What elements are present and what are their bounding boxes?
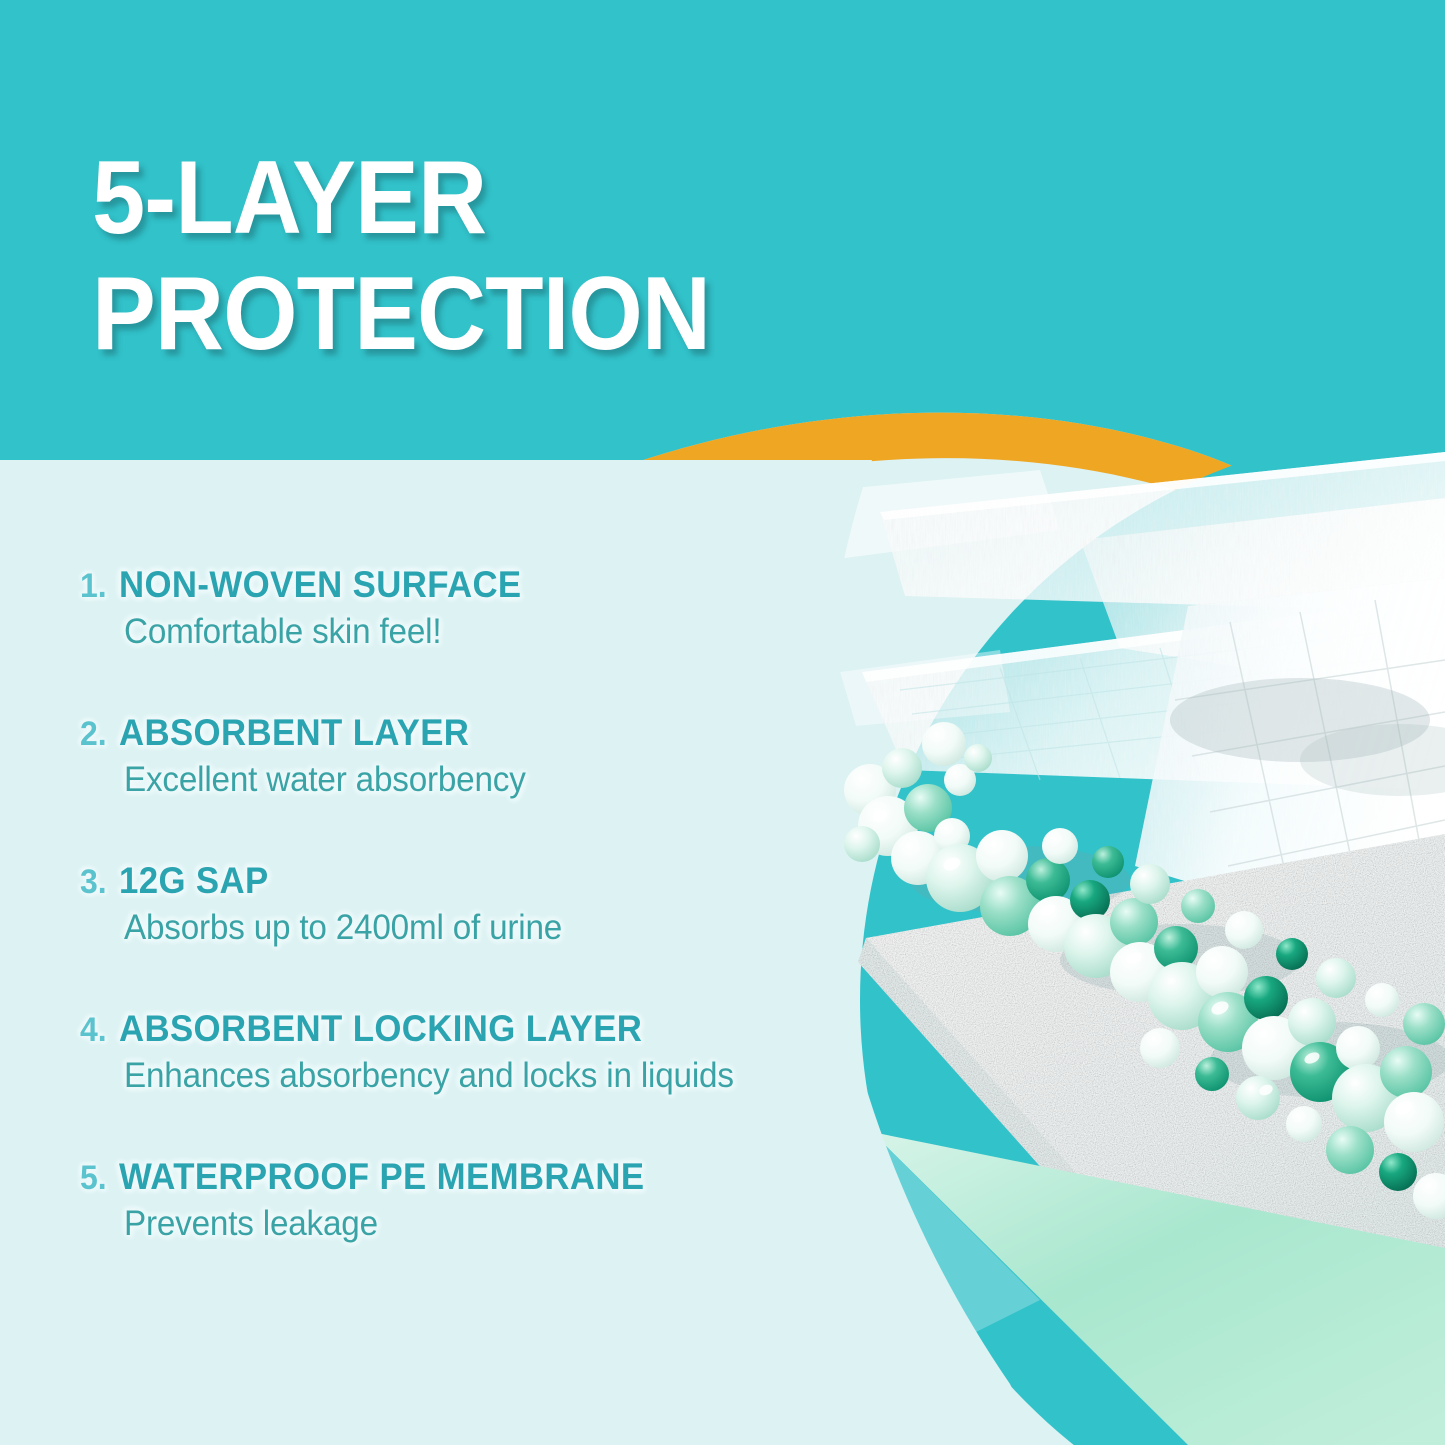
feature-heading-2: 2.ABSORBENT LAYER xyxy=(80,714,910,751)
feature-item-4: 4.ABSORBENT LOCKING LAYER Enhances absor… xyxy=(80,1010,910,1096)
feature-heading-1: 1.NON-WOVEN SURFACE xyxy=(80,566,910,603)
feature-title-5: WATERPROOF PE MEMBRANE xyxy=(119,1158,644,1195)
feature-item-1: 1.NON-WOVEN SURFACE Comfortable skin fee… xyxy=(80,566,910,652)
feature-number-1: 1. xyxy=(80,569,107,603)
feature-heading-4: 4.ABSORBENT LOCKING LAYER xyxy=(80,1010,910,1047)
feature-item-5: 5.WATERPROOF PE MEMBRANE Prevents leakag… xyxy=(80,1158,910,1244)
infographic-poster: 5-LAYER PROTECTION 1.NON-WOVEN SURFACE C… xyxy=(0,0,1445,1445)
feature-heading-3: 3.12G SAP xyxy=(80,862,910,899)
feature-description-1: Comfortable skin feel! xyxy=(124,612,871,652)
feature-item-3: 3.12G SAP Absorbs up to 2400ml of urine xyxy=(80,862,910,948)
feature-description-3: Absorbs up to 2400ml of urine xyxy=(124,908,871,948)
feature-title-3: 12G SAP xyxy=(119,862,269,899)
feature-title-1: NON-WOVEN SURFACE xyxy=(119,566,522,603)
feature-number-2: 2. xyxy=(80,717,107,751)
feature-number-4: 4. xyxy=(80,1013,107,1047)
feature-list: 1.NON-WOVEN SURFACE Comfortable skin fee… xyxy=(80,566,910,1244)
feature-description-4: Enhances absorbency and locks in liquids xyxy=(124,1056,871,1096)
feature-title-2: ABSORBENT LAYER xyxy=(119,714,469,751)
feature-number-3: 3. xyxy=(80,865,107,899)
feature-title-4: ABSORBENT LOCKING LAYER xyxy=(119,1010,642,1047)
feature-description-5: Prevents leakage xyxy=(124,1204,871,1244)
feature-heading-5: 5.WATERPROOF PE MEMBRANE xyxy=(80,1158,910,1195)
feature-description-2: Excellent water absorbency xyxy=(124,760,871,800)
feature-number-5: 5. xyxy=(80,1161,107,1195)
feature-item-2: 2.ABSORBENT LAYER Excellent water absorb… xyxy=(80,714,910,800)
